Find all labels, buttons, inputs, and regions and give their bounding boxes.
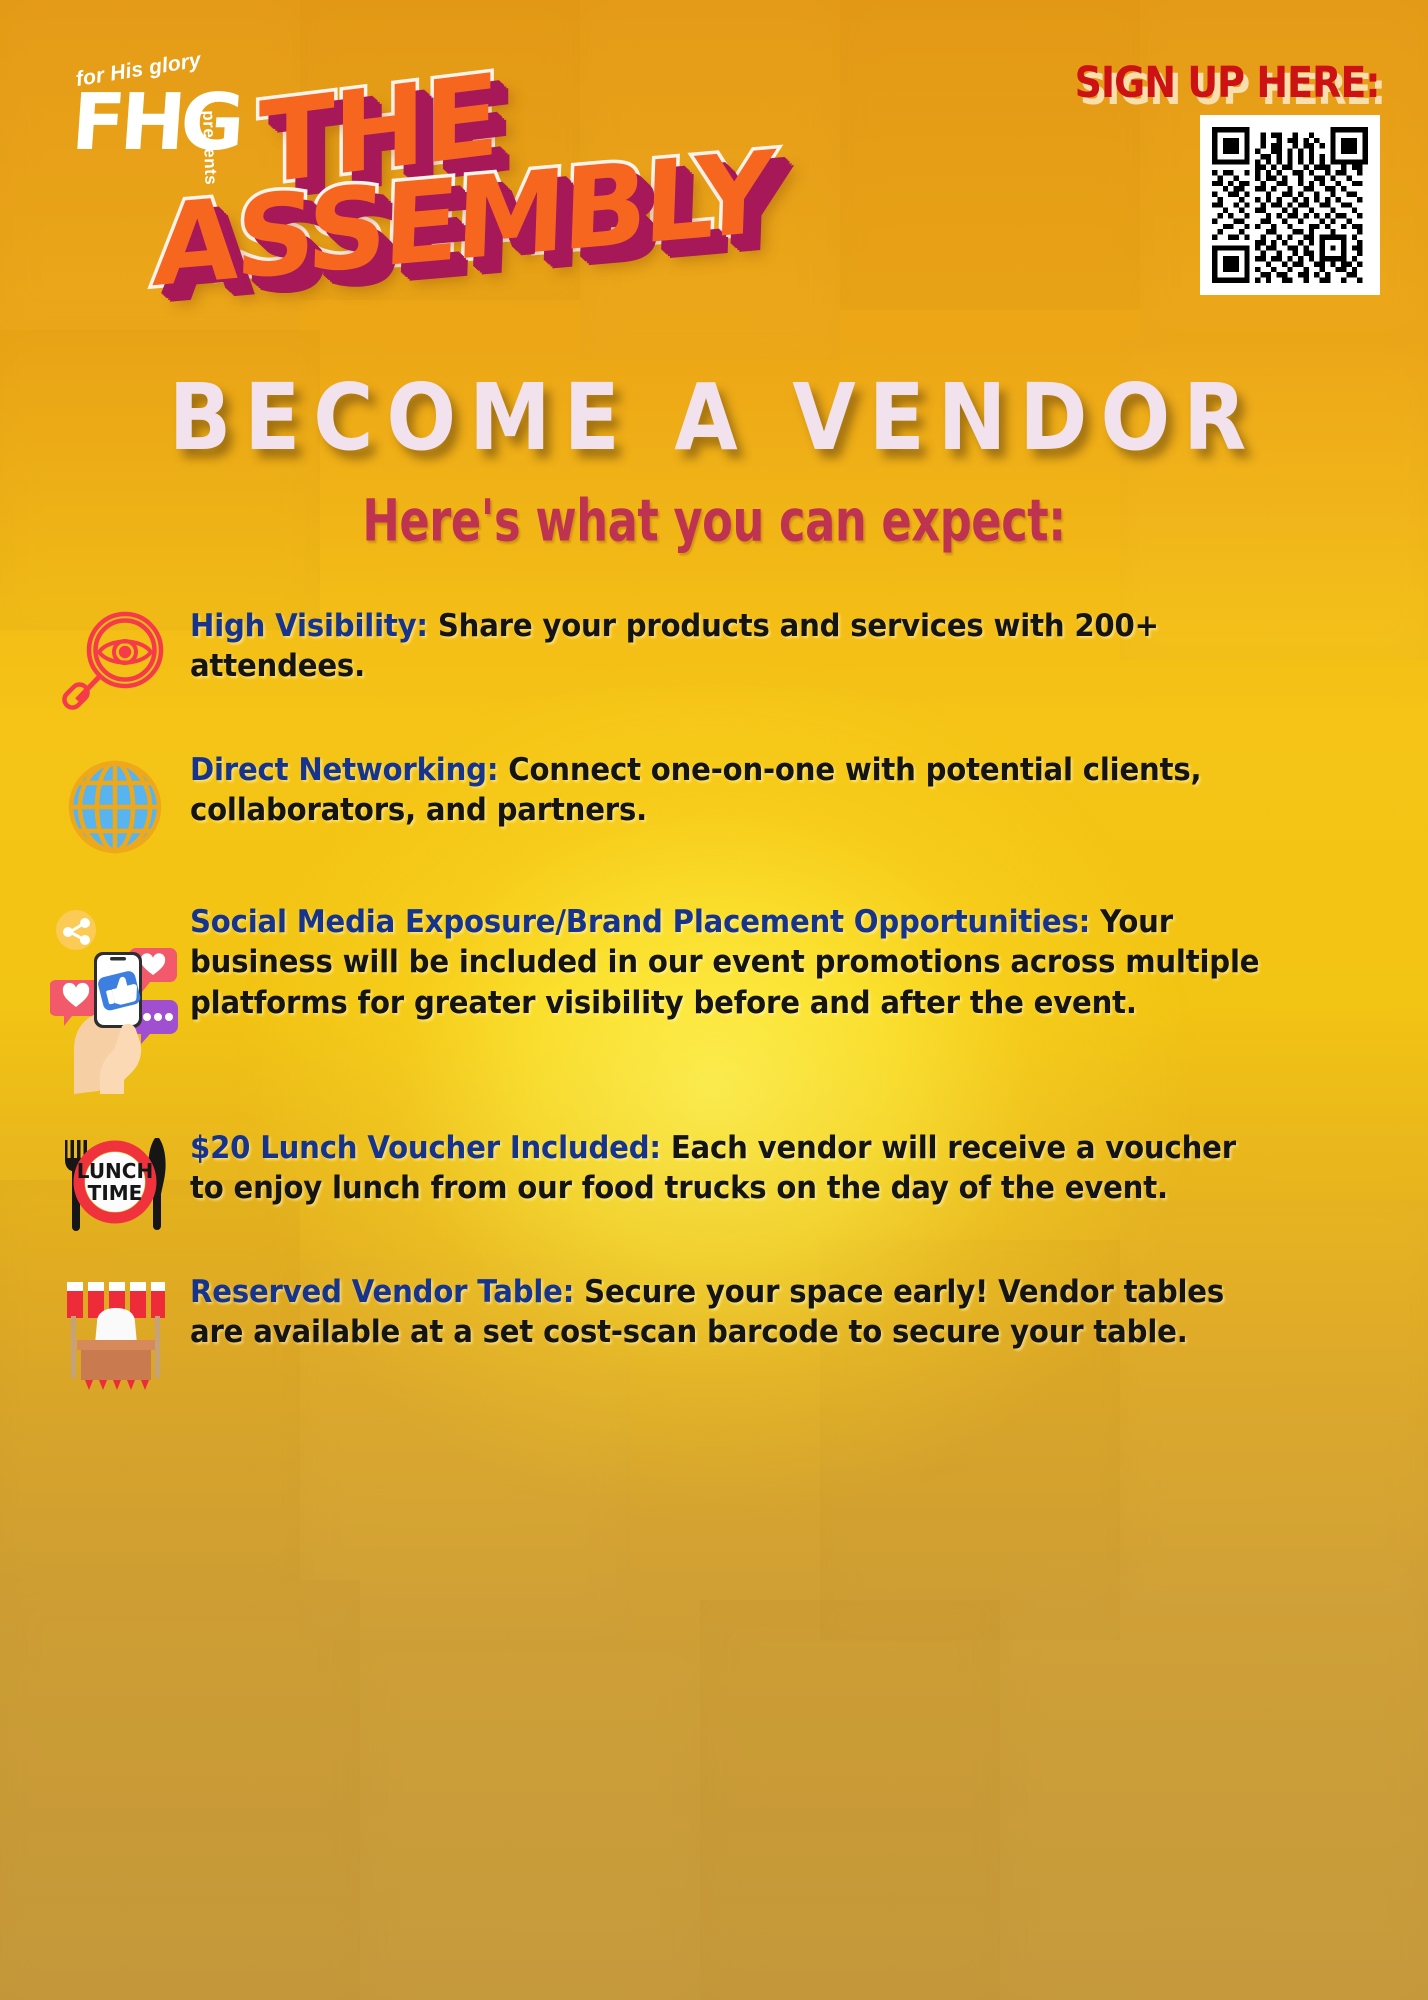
list-item-text: Reserved Vendor Table: Secure your space… [190, 1266, 1318, 1353]
list-item-text: Direct Networking: Connect one-on-one wi… [190, 744, 1318, 831]
vendor-stall-icon [40, 1266, 190, 1384]
list-item-heading: Reserved Vendor Table: [190, 1274, 574, 1310]
list-item-text: Social Media Exposure/Brand Placement Op… [190, 896, 1318, 1023]
benefits-list: High Visibility: Share your products and… [40, 600, 1390, 1398]
lunch-time-icon-svg: LUNCH TIME [53, 1130, 178, 1240]
list-item: Direct Networking: Connect one-on-one wi… [40, 744, 1390, 862]
lunch-time-icon: LUNCH TIME [40, 1122, 190, 1240]
magnifier-eye-icon [40, 600, 190, 718]
list-item-heading: Direct Networking: [190, 752, 498, 788]
page-subtitle: Here's what you can expect: [100, 488, 1328, 555]
globe-icon [40, 744, 190, 862]
the-assembly-logo: THE ASSEMBLY [150, 78, 620, 318]
vendor-stall-icon-svg [55, 1274, 175, 1394]
qr-code[interactable] [1212, 127, 1368, 283]
social-media-phone-icon-svg [50, 904, 180, 1094]
list-item-heading: High Visibility: [190, 608, 428, 644]
globe-icon-svg [60, 752, 170, 862]
social-media-phone-icon [40, 896, 190, 1096]
page-title: BECOME A VENDOR [0, 365, 1428, 471]
assembly-line-assembly: ASSEMBLY [151, 143, 772, 298]
magnifier-eye-icon-svg [55, 608, 175, 718]
header: for His glory FHG presents THE ASSEMBLY … [0, 0, 1428, 330]
svg-text:LUNCH: LUNCH [76, 1159, 152, 1183]
svg-text:TIME: TIME [87, 1181, 142, 1205]
sign-up-here-label: SIGN UP HERE: [1075, 58, 1380, 108]
list-item-text: $20 Lunch Voucher Included: Each vendor … [190, 1122, 1318, 1209]
list-item: Reserved Vendor Table: Secure your space… [40, 1266, 1390, 1384]
list-item-text: High Visibility: Share your products and… [190, 600, 1318, 687]
list-item: High Visibility: Share your products and… [40, 600, 1390, 718]
qr-code-container[interactable] [1200, 115, 1380, 295]
list-item-heading: $20 Lunch Voucher Included: [190, 1130, 661, 1166]
list-item: LUNCH TIME $20 Lunch Voucher Included: E… [40, 1122, 1390, 1240]
list-item-heading: Social Media Exposure/Brand Placement Op… [190, 904, 1090, 940]
list-item: Social Media Exposure/Brand Placement Op… [40, 896, 1390, 1096]
